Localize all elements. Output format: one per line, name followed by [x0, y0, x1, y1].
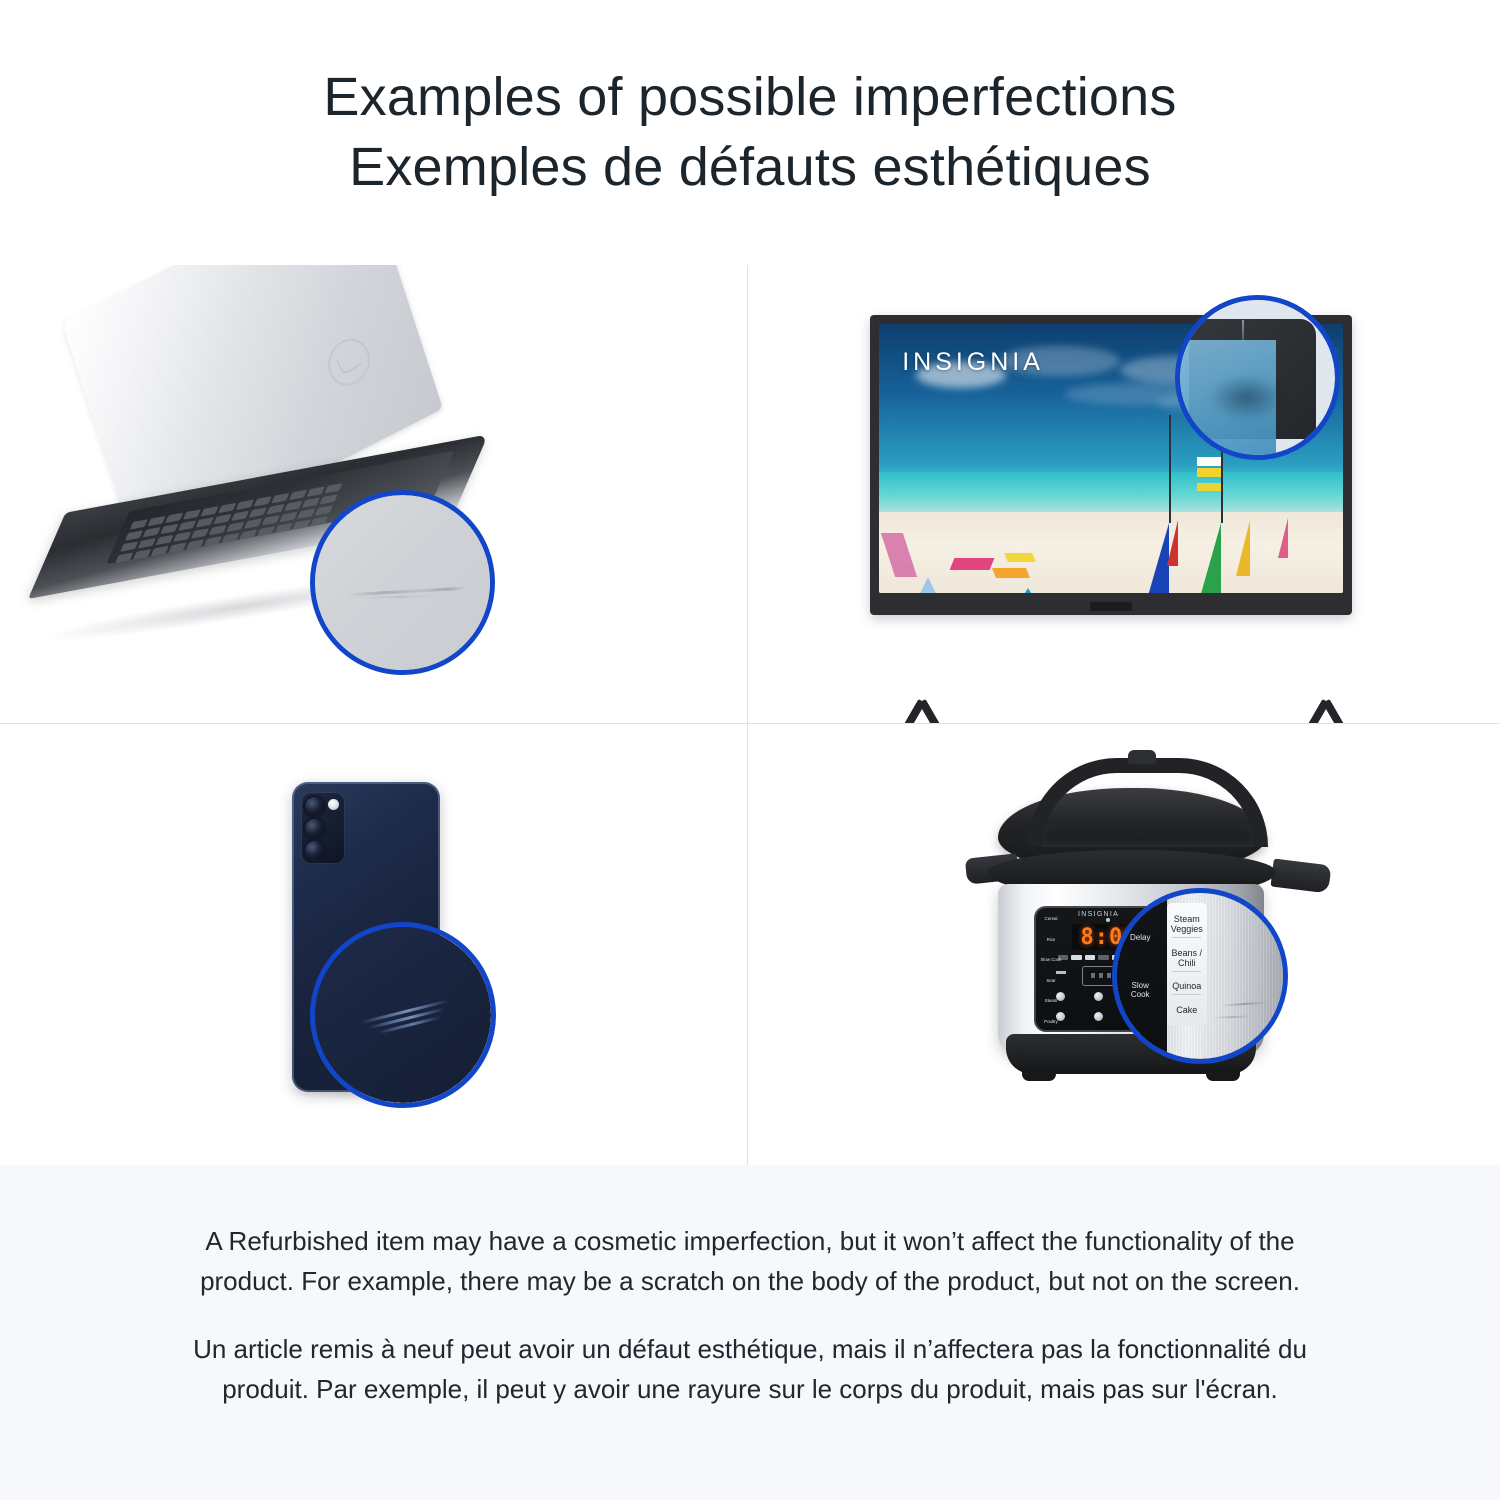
- cooker-left-button[interactable]: Steam: [1038, 998, 1064, 1003]
- sea-horizon: [879, 472, 1343, 510]
- tv-ir-sensor: [1090, 602, 1132, 611]
- cooker-foot: [1206, 1069, 1240, 1081]
- cooker-handle: [1028, 758, 1268, 847]
- laptop-illustration: [20, 295, 520, 695]
- cooker-left-button-column[interactable]: Cereal Rice Slow Cook Sear Steam Poultry: [1038, 916, 1064, 1024]
- camera-module: [301, 792, 345, 864]
- magnifier-phone-content: [315, 927, 491, 1103]
- camera-flash-icon: [328, 799, 339, 810]
- cooker-left-button[interactable]: Rice: [1038, 937, 1064, 942]
- cooker-zoom-key: Quinoa: [1167, 981, 1207, 991]
- description-paragraph-en: A Refurbished item may have a cosmetic i…: [175, 1221, 1325, 1301]
- title-block: Examples of possible imperfections Exemp…: [0, 0, 1500, 265]
- magnifier-tv-content: [1180, 300, 1335, 455]
- cooker-side-ear-right: [1271, 859, 1332, 894]
- camera-lens-icon: [305, 819, 324, 838]
- phone-illustration: [268, 782, 483, 1112]
- cooker-zoom-key: Steam Veggies: [1167, 914, 1207, 934]
- cooker-foot: [1022, 1069, 1056, 1081]
- cooker-indicator-dot: [1106, 918, 1110, 922]
- cooker-zoom-program-keys: Steam Veggies Beans / Chili Quinoa Cake: [1167, 903, 1207, 1026]
- cooker-zoom-left-keys: Delay Slow Cook: [1122, 913, 1159, 1019]
- pressure-cooker-illustration: INSIGNIA 8:00: [976, 744, 1316, 1114]
- phone-scratch-mark: [359, 999, 453, 1042]
- laptop-scratch-mark: [347, 586, 466, 596]
- tv-corner-seam: [1242, 320, 1244, 354]
- cooker-zoom-key: Beans / Chili: [1167, 948, 1207, 968]
- tv-corner-blemish: [1208, 374, 1286, 421]
- footer-description: A Refurbished item may have a cosmetic i…: [0, 1165, 1500, 1500]
- magnifier-phone-scratch: [310, 922, 496, 1108]
- example-cell-pressure-cooker: INSIGNIA 8:00: [748, 724, 1500, 1165]
- example-cell-tv: INSIGNIA: [748, 265, 1500, 724]
- magnifier-laptop-scratch: [310, 490, 495, 675]
- page-title-fr: Exemples de défauts esthétiques: [349, 132, 1151, 202]
- laptop-scratch-mark-secondary: [357, 594, 441, 598]
- tv-illustration: INSIGNIA: [870, 297, 1370, 667]
- cooker-button-slowcook[interactable]: [1094, 1012, 1103, 1021]
- magnifier-cooker-content: Delay Slow Cook Steam Veggies Beans / Ch…: [1117, 893, 1283, 1059]
- magnifier-cooker-scratch: Delay Slow Cook Steam Veggies Beans / Ch…: [1112, 888, 1288, 1064]
- magnifier-tv-bezel: [1175, 295, 1340, 460]
- cooker-zoom-key: Cake: [1167, 1005, 1207, 1015]
- cooker-button-keepwarm[interactable]: [1094, 992, 1103, 1001]
- magnifier-laptop-content: [315, 495, 490, 670]
- description-paragraph-fr: Un article remis à neuf peut avoir un dé…: [175, 1329, 1325, 1409]
- cooker-left-button[interactable]: Poultry: [1038, 1019, 1064, 1024]
- page-title-en: Examples of possible imperfections: [323, 62, 1176, 132]
- cooker-zoom-left-key: Slow Cook: [1122, 981, 1159, 999]
- camera-lens-icon: [305, 841, 324, 860]
- product-examples-grid: INSIGNIA: [0, 265, 1500, 1165]
- cooker-brand-label: INSIGNIA: [1078, 911, 1119, 918]
- cooker-left-button[interactable]: Sear: [1038, 978, 1064, 983]
- cooker-left-button[interactable]: Cereal: [1038, 916, 1064, 921]
- cooker-zoom-left-key: Delay: [1122, 933, 1159, 942]
- tv-brand-logo: INSIGNIA: [902, 348, 1044, 377]
- dell-logo-icon: [321, 330, 376, 394]
- refurbished-imperfections-infographic: Examples of possible imperfections Exemp…: [0, 0, 1500, 1500]
- cooker-left-button[interactable]: Slow Cook: [1038, 957, 1064, 962]
- example-cell-phone: [0, 724, 748, 1165]
- camera-lens-icon: [305, 797, 324, 816]
- example-cell-laptop: [0, 265, 748, 724]
- cooker-handle-knob: [1128, 750, 1156, 764]
